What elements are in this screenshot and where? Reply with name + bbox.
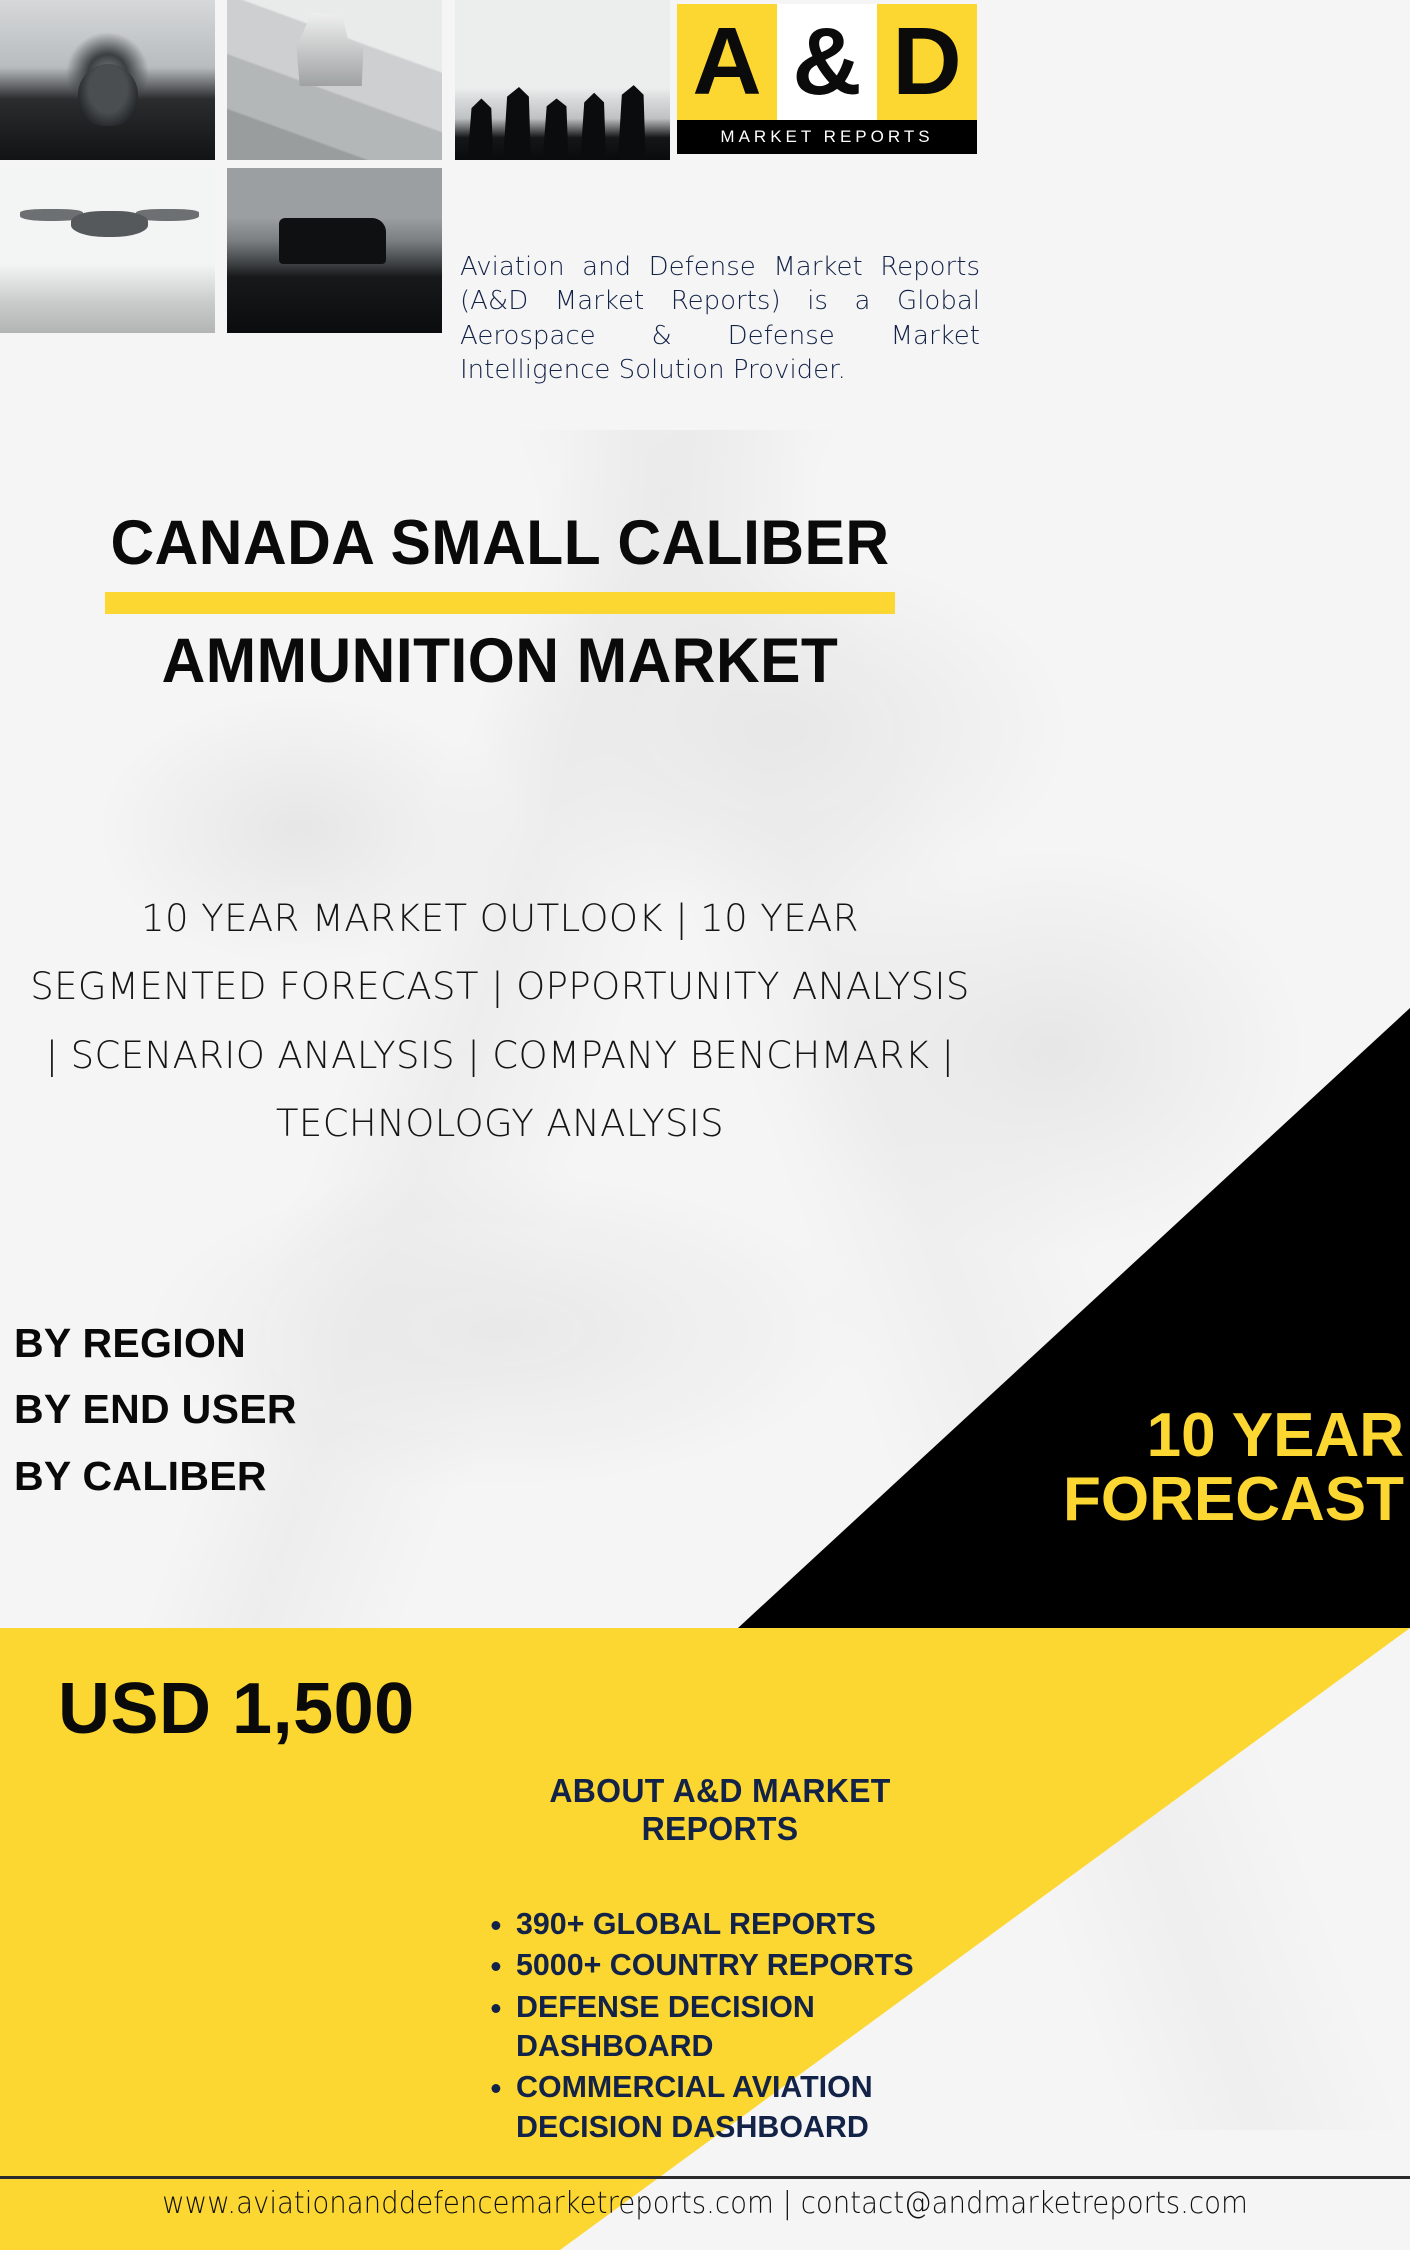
- logo-letter-d: D: [877, 4, 977, 120]
- logo-letters-row: A & D: [677, 4, 977, 120]
- about-section: ABOUT A&D MARKET REPORTS 390+ GLOBAL REP…: [460, 1772, 980, 2148]
- naval-warship-photo: [227, 0, 442, 160]
- company-intro-text: Aviation and Defense Market Reports (A&D…: [460, 250, 980, 387]
- segment-item-by-caliber: BY CALIBER: [14, 1443, 297, 1509]
- report-poster: A & D MARKET REPORTS Aviation and Defens…: [0, 0, 1410, 2250]
- segment-item-by-end-user: BY END USER: [14, 1376, 297, 1442]
- report-scope-subtitle: 10 YEAR MARKET OUTLOOK | 10 YEAR SEGMENT…: [20, 885, 980, 1159]
- list-item: COMMERCIAL AVIATION DECISION DASHBOARD: [516, 2067, 971, 2146]
- page-title-line-2: AMMUNITION MARKET: [20, 628, 980, 694]
- list-item: 5000+ COUNTRY REPORTS: [516, 1945, 971, 1984]
- forecast-badge: 10 YEAR FORECAST: [634, 1404, 1410, 1533]
- about-bullet-list: 390+ GLOBAL REPORTS 5000+ COUNTRY REPORT…: [460, 1904, 980, 2146]
- fighter-jet-on-carrier-deck-photo: [0, 0, 215, 160]
- logo-ampersand: &: [777, 4, 877, 120]
- logo-letter-a: A: [677, 4, 777, 120]
- about-accent-rule: [460, 1853, 976, 1860]
- list-item: 390+ GLOBAL REPORTS: [516, 1904, 971, 1943]
- segmentation-list: BY REGION BY END USER BY CALIBER: [14, 1310, 297, 1509]
- footer-divider: [0, 2176, 1410, 2179]
- helicopter-icon: [0, 168, 215, 333]
- page-title-line-1: CANADA SMALL CALIBER: [20, 510, 980, 576]
- title-accent-rule: [105, 592, 895, 614]
- helicopter-rappel-photo: [0, 168, 215, 333]
- soldiers-icon: [455, 0, 670, 160]
- forecast-badge-line-2: FORECAST: [634, 1468, 1404, 1532]
- ad-market-reports-logo: A & D MARKET REPORTS: [677, 4, 977, 154]
- soldiers-silhouette-photo: [455, 0, 670, 160]
- about-heading: ABOUT A&D MARKET REPORTS: [468, 1772, 972, 1848]
- footer-contact[interactable]: www.aviationanddefencemarketreports.com …: [56, 2186, 1353, 2221]
- logo-subtitle: MARKET REPORTS: [677, 120, 977, 154]
- fighter-jet-icon: [0, 0, 215, 160]
- armored-vehicle-at-dusk-photo: [227, 168, 442, 333]
- price-label: USD 1,500: [58, 1668, 415, 1750]
- warship-icon: [227, 0, 442, 160]
- page-title: CANADA SMALL CALIBER AMMUNITION MARKET: [0, 510, 1000, 694]
- armored-vehicle-icon: [227, 168, 442, 333]
- segment-item-by-region: BY REGION: [14, 1310, 297, 1376]
- list-item: DEFENSE DECISION DASHBOARD: [516, 1987, 971, 2066]
- forecast-badge-line-1: 10 YEAR: [634, 1404, 1404, 1468]
